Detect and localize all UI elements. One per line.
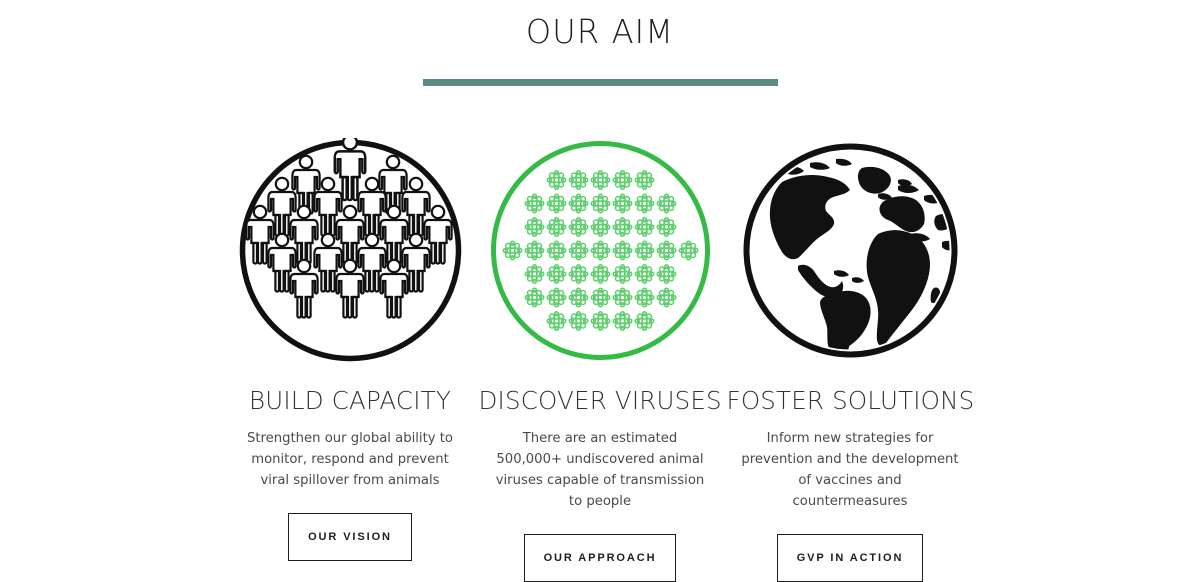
card-cta-wrap: GVP IN ACTION (777, 534, 924, 582)
aim-cards-row: BUILD CAPACITY Strengthen our global abi… (0, 138, 1200, 582)
our-approach-button[interactable]: OUR APPROACH (524, 534, 677, 582)
card-cta-wrap: OUR APPROACH (524, 534, 677, 582)
card-cta-wrap: OUR VISION (288, 513, 412, 561)
globe-icon (738, 138, 963, 363)
card-title: FOSTER SOLUTIONS (726, 386, 974, 415)
card-description: Strengthen our global ability to monitor… (239, 428, 461, 491)
card-build-capacity: BUILD CAPACITY Strengthen our global abi… (225, 138, 475, 561)
card-title: DISCOVER VIRUSES (478, 386, 721, 415)
card-foster-solutions: FOSTER SOLUTIONS Inform new strategies f… (725, 138, 975, 582)
title-divider (423, 79, 778, 86)
card-title: BUILD CAPACITY (249, 386, 451, 415)
people-in-circle-icon (238, 138, 463, 363)
gvp-in-action-button[interactable]: GVP IN ACTION (777, 534, 924, 582)
page-title: OUR AIM (18, 14, 1182, 50)
viruses-in-circle-icon (488, 138, 713, 363)
card-description: Inform new strategies for prevention and… (739, 428, 961, 512)
our-vision-button[interactable]: OUR VISION (288, 513, 412, 561)
section-header: OUR AIM (0, 0, 1200, 86)
card-description: There are an estimated 500,000+ undiscov… (489, 428, 711, 512)
card-discover-viruses: DISCOVER VIRUSES There are an estimated … (475, 138, 725, 582)
